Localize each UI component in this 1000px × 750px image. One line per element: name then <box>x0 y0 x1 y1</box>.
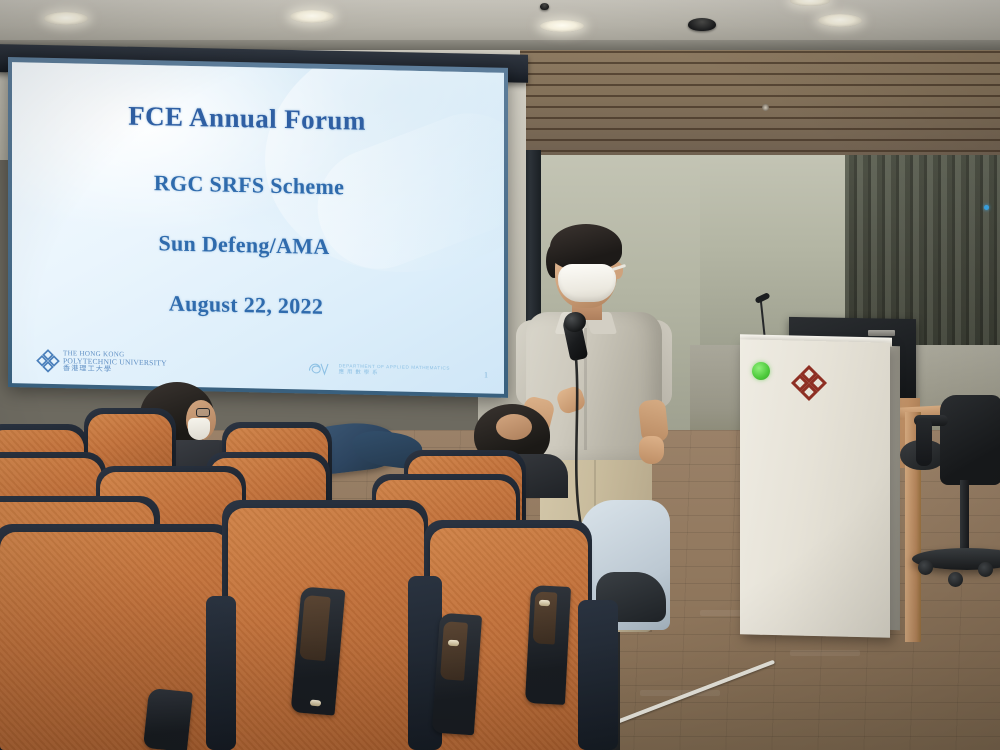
ceiling-downlight-1 <box>44 12 88 25</box>
slide-line-scheme: RGC SRFS Scheme <box>12 167 504 204</box>
monitor-brand-badge <box>868 330 895 336</box>
ceiling-downlight-2 <box>290 10 334 23</box>
ama-logo-text: DEPARTMENT OF APPLIED MATHEMATICS 應用數學系 <box>339 363 450 377</box>
polyu-logo: THE HONG KONG POLYTECHNIC UNIVERSITY 香港理… <box>38 350 167 374</box>
seat-armrest-pad <box>299 595 330 661</box>
lecture-hall-photo: FCE Annual Forum RGC SRFS Scheme Sun Def… <box>0 0 1000 750</box>
ama-logo: DEPARTMENT OF APPLIED MATHEMATICS 應用數學系 <box>308 361 450 380</box>
ceiling-downlight-4 <box>818 14 862 27</box>
ama-mark-icon <box>308 361 334 378</box>
seat-armrest-badge <box>448 640 459 647</box>
chair-caster-icon <box>948 572 963 587</box>
presenter-face-mask <box>558 264 616 302</box>
slide-line-author: Sun Defeng/AMA <box>12 226 504 263</box>
polyu-knot-icon <box>34 347 62 375</box>
seat-armrest-badge <box>310 700 321 707</box>
green-dot-sticker <box>752 362 770 380</box>
chair-caster-icon <box>978 562 993 577</box>
presenter-hand-right <box>639 436 664 464</box>
projected-slide: FCE Annual Forum RGC SRFS Scheme Sun Def… <box>12 62 504 394</box>
ceiling-speaker-icon <box>688 18 716 31</box>
audience-member-front-left-mask <box>188 418 210 440</box>
ceiling-downlight-3 <box>540 20 584 32</box>
carpet-texture <box>790 650 860 656</box>
seat-armrest-badge <box>539 600 550 607</box>
slide-title: FCE Annual Forum <box>12 98 504 140</box>
seat-side-panel <box>206 596 236 750</box>
ama-chinese-name: 應用數學系 <box>339 369 450 378</box>
polyu-chinese-name: 香港理工大學 <box>63 365 167 374</box>
slide-line-date: August 22, 2022 <box>12 287 504 324</box>
slide-page-number: 1 <box>484 370 488 379</box>
seat-side-panel <box>578 600 618 750</box>
projection-screen: FCE Annual Forum RGC SRFS Scheme Sun Def… <box>8 57 508 398</box>
seat-armrest-pad <box>440 621 468 681</box>
ceiling-sprinkler-icon <box>540 3 549 10</box>
office-chair-back <box>940 395 1000 485</box>
seat-armrest <box>143 688 193 750</box>
audience-member-center-crown <box>496 414 532 440</box>
chair-caster-icon <box>918 560 933 575</box>
panel-screw-icon <box>762 104 769 111</box>
seat-back <box>0 532 230 750</box>
glasses-icon <box>196 408 210 417</box>
polyu-logo-text: THE HONG KONG POLYTECHNIC UNIVERSITY 香港理… <box>63 351 167 375</box>
office-chair-armrest <box>916 418 932 466</box>
indicator-led-icon <box>984 205 989 210</box>
wood-slat-acoustic-panel <box>520 40 1000 158</box>
